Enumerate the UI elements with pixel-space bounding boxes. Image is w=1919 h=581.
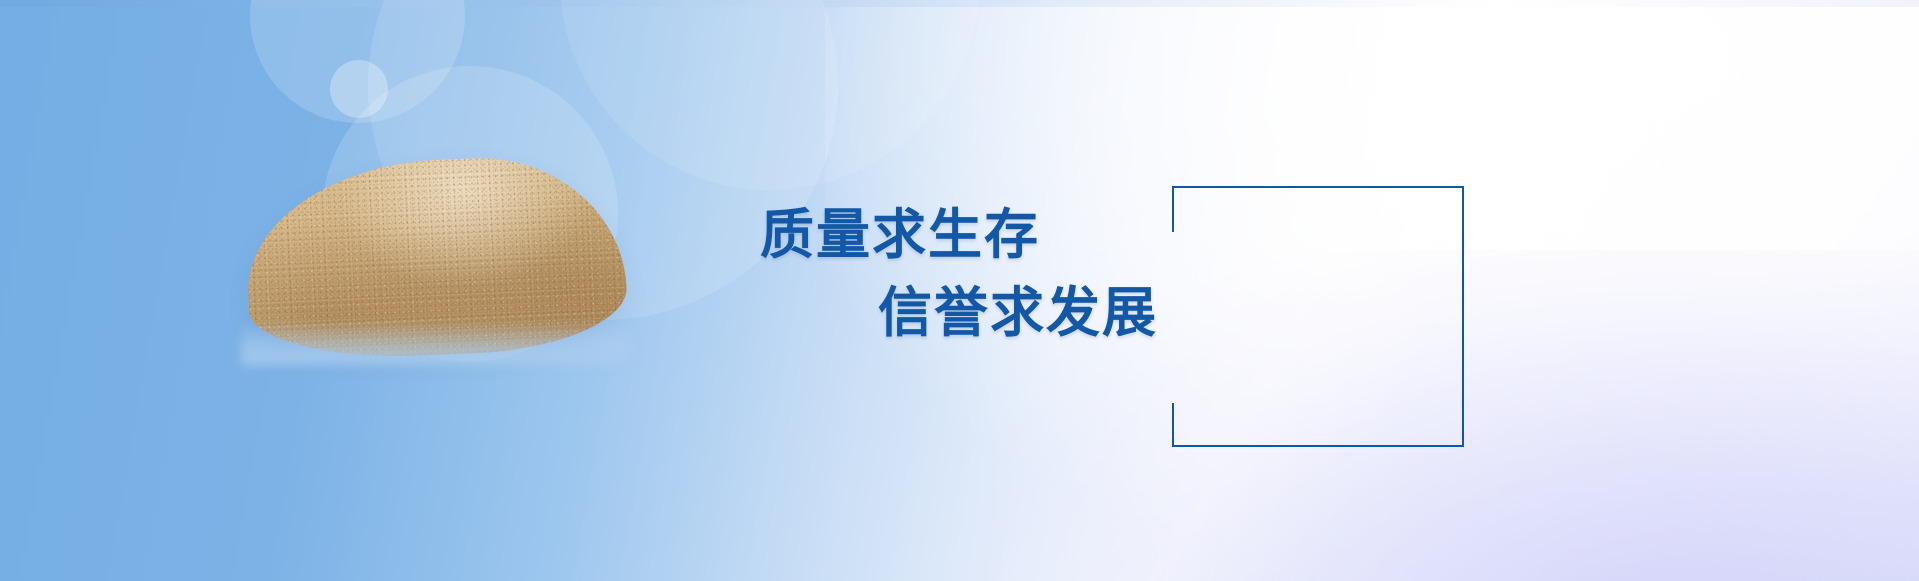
decorative-rectangle-outline — [1172, 186, 1464, 447]
frame-left-edge-lower — [1172, 403, 1174, 447]
slogan-line-1: 质量求生存 — [760, 196, 1180, 274]
hero-banner: 质量求生存 信誉求发展 — [0, 0, 1919, 581]
slogan-line-2: 信誉求发展 — [878, 274, 1180, 352]
slogan-block: 质量求生存 信誉求发展 — [760, 196, 1180, 352]
frame-right-edge — [1462, 186, 1464, 447]
quartz-sand-pile-image — [247, 160, 625, 355]
bubble-small-icon — [330, 60, 388, 118]
frame-bottom-edge — [1172, 445, 1464, 447]
sand-grain-layer-2 — [243, 152, 629, 363]
frame-top-edge — [1172, 186, 1464, 188]
